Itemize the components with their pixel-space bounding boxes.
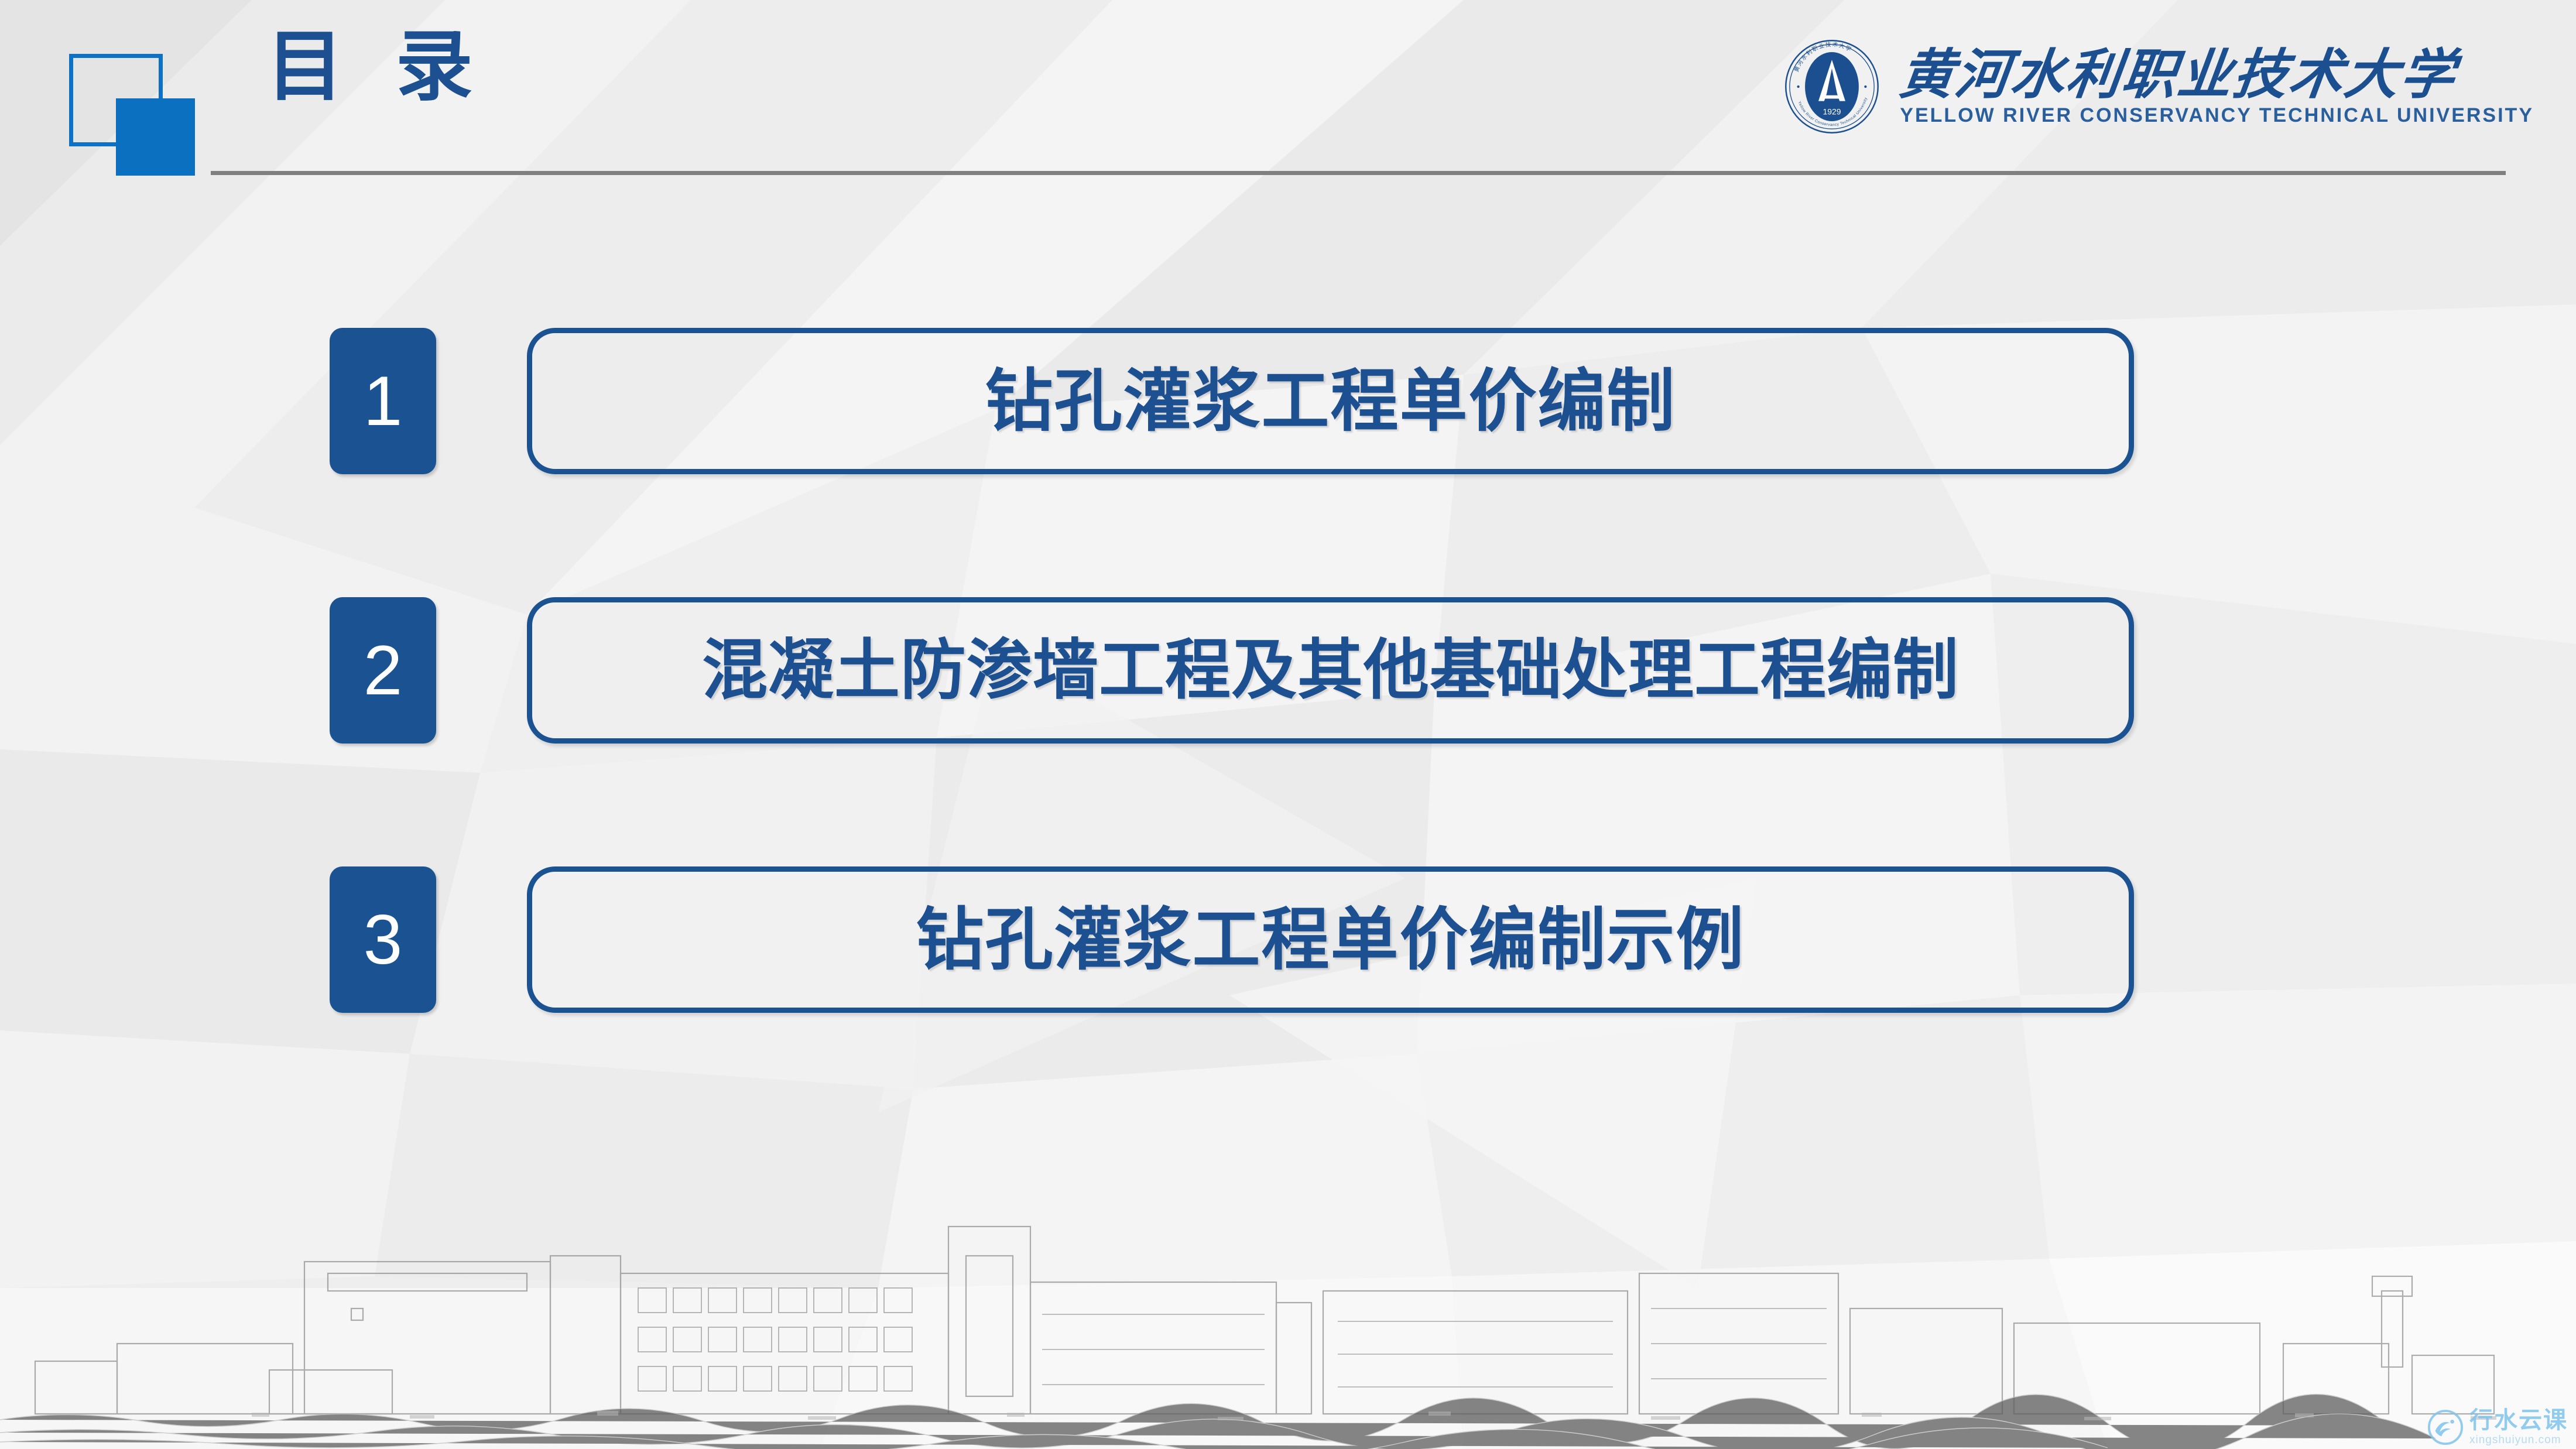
slide-root: 目 录 1929 黄河水利职业技术大学 Yellow River Conserv… xyxy=(0,0,2576,1449)
university-name-cn: 黄河水利职业技术大学 xyxy=(1897,48,2537,102)
university-name-block: 黄河水利职业技术大学 YELLOW RIVER CONSERVANCY TECH… xyxy=(1900,48,2534,125)
toc-list: 1 钻孔灌浆工程单价编制 2 混凝土防渗墙工程及其他基础处理工程编制 3 钻孔灌… xyxy=(0,328,2576,1136)
toc-item-3[interactable]: 3 钻孔灌浆工程单价编制示例 xyxy=(0,866,2576,1013)
toc-item-label: 混凝土防渗墙工程及其他基础处理工程编制 xyxy=(702,638,1959,703)
toc-item-2[interactable]: 2 混凝土防渗墙工程及其他基础处理工程编制 xyxy=(0,597,2576,744)
toc-item-box[interactable]: 钻孔灌浆工程单价编制示例 xyxy=(527,866,2134,1013)
toc-number-badge: 2 xyxy=(330,597,436,744)
decorative-squares-icon xyxy=(69,54,167,148)
watermark-name-cn: 行水云课 xyxy=(2469,1409,2568,1432)
university-name-en: YELLOW RIVER CONSERVANCY TECHNICAL UNIVE… xyxy=(1900,105,2534,125)
toc-item-label: 钻孔灌浆工程单价编制 xyxy=(985,367,1676,435)
watermark-text: 行水云课 xingshuiyun.com xyxy=(2469,1409,2568,1445)
page-title: 目 录 xyxy=(266,28,488,105)
university-seal-icon: 1929 黄河水利职业技术大学 Yellow River Conservancy… xyxy=(1784,39,1880,135)
toc-number-badge: 3 xyxy=(330,866,436,1013)
header-divider xyxy=(211,171,2506,175)
toc-item-box[interactable]: 钻孔灌浆工程单价编制 xyxy=(527,328,2134,474)
watermark-url: xingshuiyun.com xyxy=(2469,1434,2568,1445)
toc-item-1[interactable]: 1 钻孔灌浆工程单价编制 xyxy=(0,328,2576,474)
site-watermark: 行水云课 xingshuiyun.com xyxy=(2427,1409,2568,1445)
toc-item-box[interactable]: 混凝土防渗墙工程及其他基础处理工程编制 xyxy=(527,597,2134,744)
slide-header: 目 录 1929 黄河水利职业技术大学 Yellow River Conserv… xyxy=(0,0,2576,176)
university-logo: 1929 黄河水利职业技术大学 Yellow River Conservancy… xyxy=(1784,28,2534,145)
toc-item-label: 钻孔灌浆工程单价编制示例 xyxy=(916,906,1745,974)
toc-number-badge: 1 xyxy=(330,328,436,474)
campus-skyline-illustration xyxy=(0,1168,2576,1449)
wave-logo-icon xyxy=(2427,1409,2464,1445)
svg-text:1929: 1929 xyxy=(1823,107,1841,117)
square-filled-icon xyxy=(116,98,195,176)
